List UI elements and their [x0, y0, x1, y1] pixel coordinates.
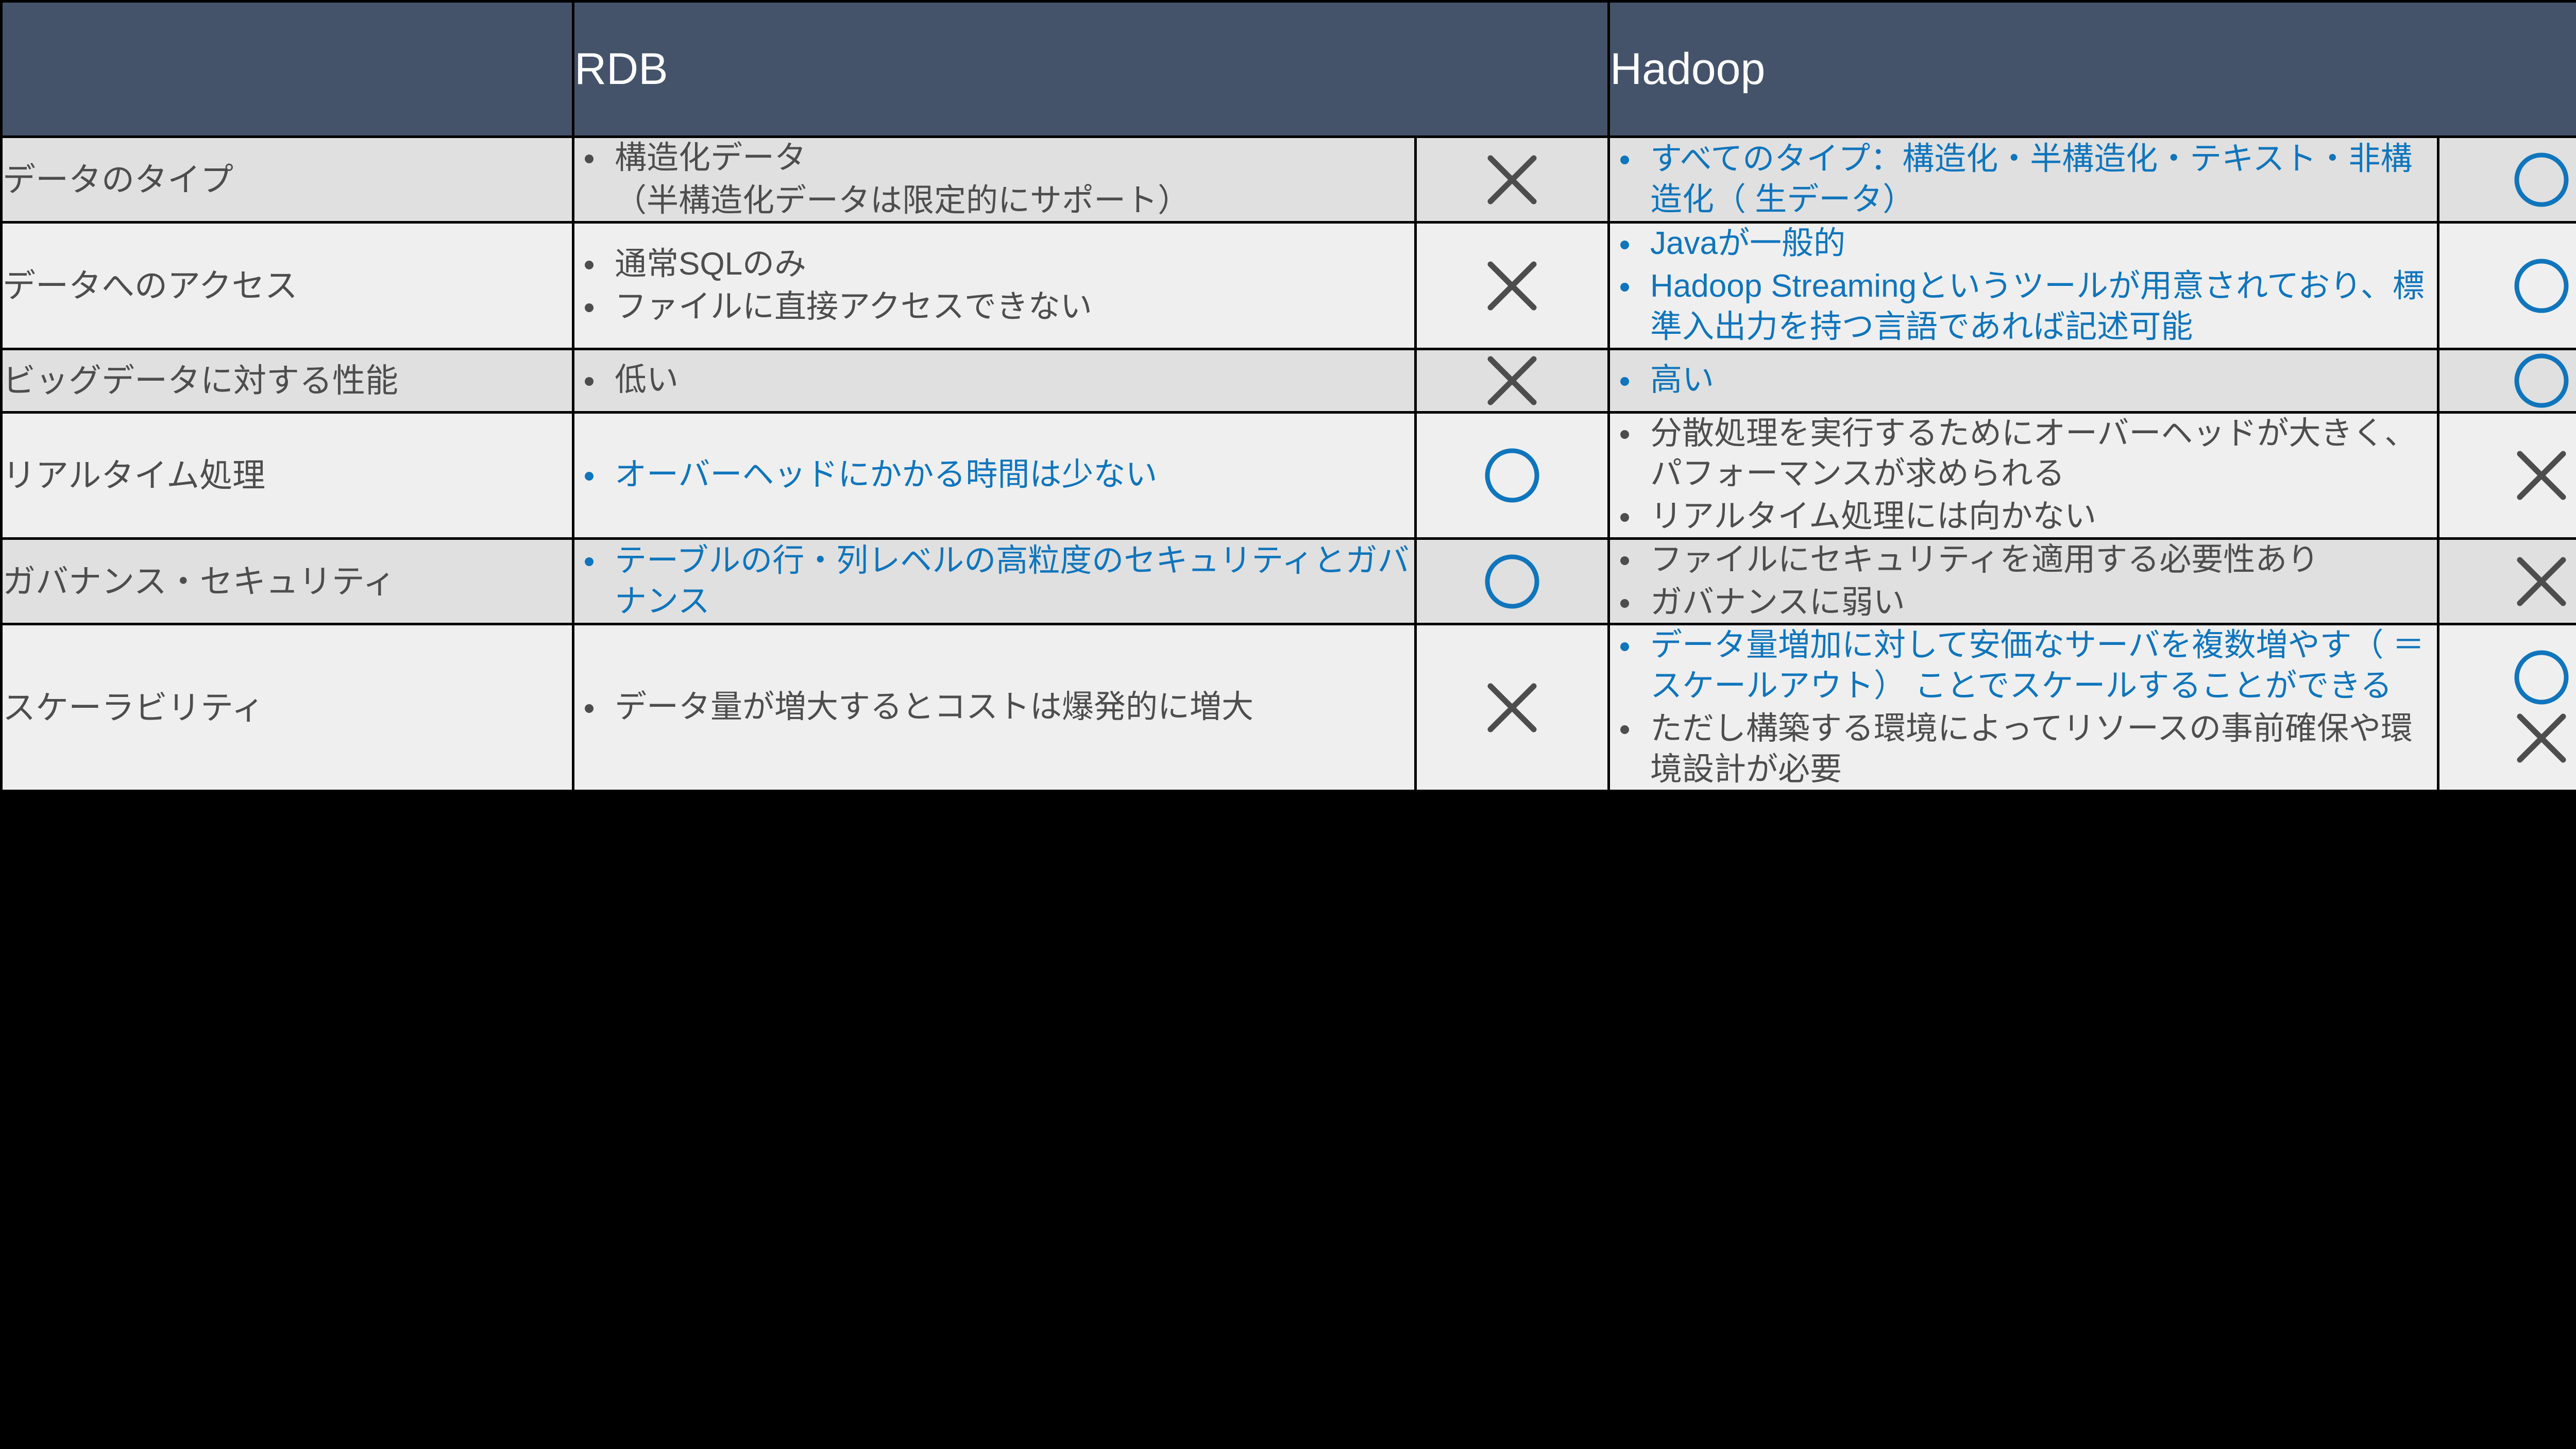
rdb-mark	[1417, 540, 1607, 623]
bullet-item: Javaが一般的	[1610, 224, 2437, 264]
rdb-bullets: データ量が増大するとコストは爆発的に増大	[574, 625, 1414, 790]
bullet-item: オーバーヘッドにかかる時間は少ない	[574, 455, 1414, 496]
rdb-bullets: オーバーヘッドにかかる時間は少ない	[574, 414, 1414, 537]
bullet-list: Javaが一般的Hadoop Streamingというツールが用意されており、標…	[1610, 224, 2437, 347]
table-body: データのタイプ構造化データ（半構造化データは限定的にサポート）すべてのタイプ：構…	[3, 138, 2576, 790]
hadoop-bullets: データ量増加に対して安価なサーバを複数増やす（ ＝スケールアウト） ことでスケー…	[1610, 625, 2437, 790]
rdb-bullets: 構造化データ（半構造化データは限定的にサポート）	[574, 138, 1414, 221]
circle-mark	[2439, 350, 2576, 411]
bullet-item: テーブルの行・列レベルの高粒度のセキュリティとガバナンス	[574, 541, 1414, 622]
bullet-item: 低い	[574, 360, 1414, 401]
cross-mark	[1417, 677, 1607, 738]
cross-mark	[2439, 708, 2576, 769]
bullet-list: ファイルにセキュリティを適用する必要性ありガバナンスに弱い	[1610, 540, 2437, 623]
bullet-list: データ量増加に対して安価なサーバを複数増やす（ ＝スケールアウト） ことでスケー…	[1610, 625, 2437, 790]
header-hadoop: Hadoop	[1610, 3, 2576, 135]
header-label-column	[3, 3, 572, 135]
row-label: ビッグデータに対する性能	[3, 350, 572, 411]
row-label: データのタイプ	[3, 138, 572, 221]
hadoop-mark	[2439, 540, 2576, 623]
bullet-item: （半構造化データは限定的にサポート）	[574, 181, 1414, 221]
circle-mark	[2439, 647, 2576, 708]
bullet-item: ファイルにセキュリティを適用する必要性あり	[1610, 540, 2437, 581]
table-row: ガバナンス・セキュリティテーブルの行・列レベルの高粒度のセキュリティとガバナンス…	[3, 540, 2576, 623]
bullet-item: ファイルに直接アクセスできない	[574, 287, 1414, 328]
bullet-list: 分散処理を実行するためにオーバーヘッドが大きく、パフォーマンスが求められるリアル…	[1610, 414, 2437, 537]
cross-mark	[1417, 149, 1607, 210]
cross-mark	[2439, 551, 2576, 612]
bullet-item: Hadoop Streamingというツールが用意されており、標準入出力を持つ言…	[1610, 266, 2437, 347]
bullet-item: 構造化データ	[574, 138, 1414, 179]
bullet-list: オーバーヘッドにかかる時間は少ない	[574, 455, 1414, 496]
table-row: データのタイプ構造化データ（半構造化データは限定的にサポート）すべてのタイプ：構…	[3, 138, 2576, 221]
row-label: リアルタイム処理	[3, 414, 572, 537]
bullet-list: データ量が増大するとコストは爆発的に増大	[574, 687, 1414, 728]
slide-root: RDB Hadoop データのタイプ構造化データ（半構造化データは限定的にサポー…	[0, 0, 2576, 1449]
bullet-item: すべてのタイプ：構造化・半構造化・テキスト・非構造化（ 生データ）	[1610, 139, 2437, 220]
bullet-list: 通常SQLのみファイルに直接アクセスできない	[574, 244, 1414, 327]
bullet-list: 低い	[574, 360, 1414, 401]
row-label: ガバナンス・セキュリティ	[3, 540, 572, 623]
mark-stack	[2439, 647, 2576, 769]
bullet-item: データ量増加に対して安価なサーバを複数増やす（ ＝スケールアウト） ことでスケー…	[1610, 625, 2437, 706]
table-row: データへのアクセス通常SQLのみファイルに直接アクセスできないJavaが一般的H…	[3, 224, 2576, 347]
hadoop-mark	[2439, 414, 2576, 537]
bullet-list: テーブルの行・列レベルの高粒度のセキュリティとガバナンス	[574, 541, 1414, 622]
hadoop-mark	[2439, 350, 2576, 411]
bullet-list: 構造化データ（半構造化データは限定的にサポート）	[574, 138, 1414, 221]
cross-mark	[1417, 255, 1607, 316]
circle-mark	[1417, 445, 1607, 506]
cross-mark	[1417, 350, 1607, 411]
hadoop-mark	[2439, 138, 2576, 221]
rdb-mark	[1417, 350, 1607, 411]
hadoop-bullets: 分散処理を実行するためにオーバーヘッドが大きく、パフォーマンスが求められるリアル…	[1610, 414, 2437, 537]
circle-mark	[1417, 551, 1607, 612]
rdb-mark	[1417, 138, 1607, 221]
bullet-list: すべてのタイプ：構造化・半構造化・テキスト・非構造化（ 生データ）	[1610, 139, 2437, 220]
rdb-bullets: 低い	[574, 350, 1414, 411]
hadoop-bullets: 高い	[1610, 350, 2437, 411]
bullet-item: 通常SQLのみ	[574, 244, 1414, 285]
bullet-item: ガバナンスに弱い	[1610, 583, 2437, 623]
row-label: スケーラビリティ	[3, 625, 572, 790]
bullet-item: 分散処理を実行するためにオーバーヘッドが大きく、パフォーマンスが求められる	[1610, 414, 2437, 495]
hadoop-bullets: ファイルにセキュリティを適用する必要性ありガバナンスに弱い	[1610, 540, 2437, 623]
table-row: スケーラビリティデータ量が増大するとコストは爆発的に増大データ量増加に対して安価…	[3, 625, 2576, 790]
bullet-item: ただし構築する環境によってリソースの事前確保や環境設計が必要	[1610, 709, 2437, 790]
bottom-bar	[0, 1427, 2576, 1449]
table-row: リアルタイム処理オーバーヘッドにかかる時間は少ない分散処理を実行するためにオーバ…	[3, 414, 2576, 537]
bullet-item: データ量が増大するとコストは爆発的に増大	[574, 687, 1414, 728]
rdb-bullets: テーブルの行・列レベルの高粒度のセキュリティとガバナンス	[574, 540, 1414, 623]
hadoop-mark	[2439, 625, 2576, 790]
header-rdb: RDB	[574, 3, 1607, 135]
bullet-item: リアルタイム処理には向かない	[1610, 497, 2437, 537]
bullet-list: 高い	[1610, 360, 2437, 401]
table-row: ビッグデータに対する性能低い高い	[3, 350, 2576, 411]
hadoop-bullets: すべてのタイプ：構造化・半構造化・テキスト・非構造化（ 生データ）	[1610, 138, 2437, 221]
hadoop-bullets: Javaが一般的Hadoop Streamingというツールが用意されており、標…	[1610, 224, 2437, 347]
rdb-bullets: 通常SQLのみファイルに直接アクセスできない	[574, 224, 1414, 347]
circle-mark	[2439, 149, 2576, 210]
circle-mark	[2439, 255, 2576, 316]
rdb-mark	[1417, 625, 1607, 790]
rdb-mark	[1417, 414, 1607, 537]
hadoop-mark	[2439, 224, 2576, 347]
table-header-row: RDB Hadoop	[3, 3, 2576, 135]
rdb-mark	[1417, 224, 1607, 347]
comparison-table: RDB Hadoop データのタイプ構造化データ（半構造化データは限定的にサポー…	[0, 0, 2576, 792]
row-label: データへのアクセス	[3, 224, 572, 347]
cross-mark	[2439, 445, 2576, 506]
bullet-item: 高い	[1610, 360, 2437, 401]
